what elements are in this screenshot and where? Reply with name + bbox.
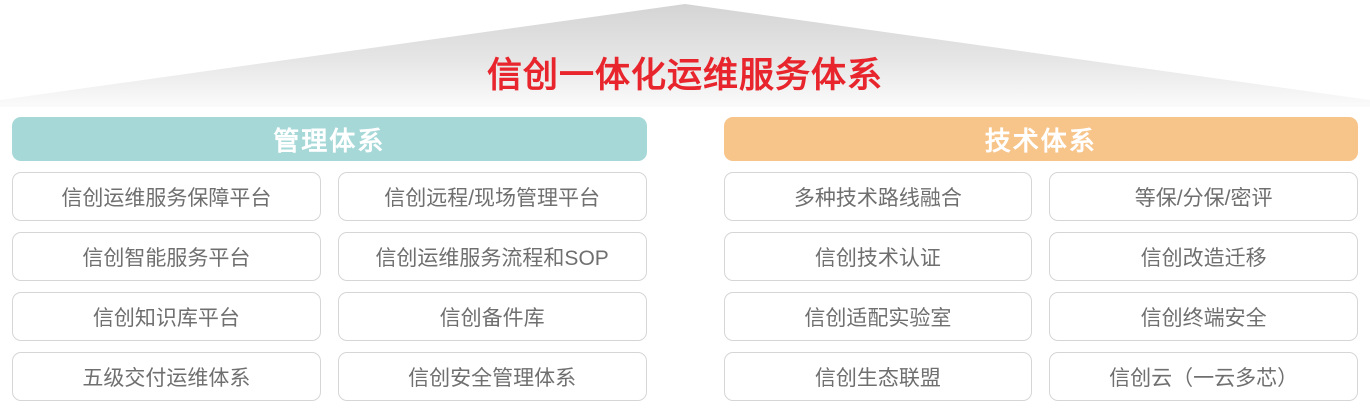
- panel-grid-management: 信创运维服务保障平台 信创远程/现场管理平台 信创智能服务平台 信创运维服务流程…: [12, 172, 647, 401]
- cell-item[interactable]: 信创知识库平台: [12, 292, 321, 341]
- cell-item[interactable]: 信创智能服务平台: [12, 232, 321, 281]
- panel-header-technology: 技术体系: [724, 117, 1359, 161]
- panels-container: 管理体系 信创运维服务保障平台 信创远程/现场管理平台 信创智能服务平台 信创运…: [0, 117, 1370, 401]
- infographic-root: 信创一体化运维服务体系 管理体系 信创运维服务保障平台 信创远程/现场管理平台 …: [0, 0, 1370, 418]
- cell-item[interactable]: 信创安全管理体系: [338, 352, 647, 401]
- cell-item[interactable]: 信创生态联盟: [724, 352, 1033, 401]
- cell-item[interactable]: 信创改造迁移: [1049, 232, 1358, 281]
- panel-grid-technology: 多种技术路线融合 等保/分保/密评 信创技术认证 信创改造迁移 信创适配实验室 …: [724, 172, 1359, 401]
- cell-item[interactable]: 信创终端安全: [1049, 292, 1358, 341]
- cell-item[interactable]: 信创技术认证: [724, 232, 1033, 281]
- cell-item[interactable]: 信创云（一云多芯）: [1049, 352, 1358, 401]
- cell-item[interactable]: 五级交付运维体系: [12, 352, 321, 401]
- cell-item[interactable]: 等保/分保/密评: [1049, 172, 1358, 221]
- cell-item[interactable]: 信创备件库: [338, 292, 647, 341]
- cell-item[interactable]: 信创运维服务流程和SOP: [338, 232, 647, 281]
- cell-item[interactable]: 信创远程/现场管理平台: [338, 172, 647, 221]
- panel-technology: 技术体系 多种技术路线融合 等保/分保/密评 信创技术认证 信创改造迁移 信创适…: [724, 117, 1359, 401]
- cell-item[interactable]: 信创运维服务保障平台: [12, 172, 321, 221]
- page-title: 信创一体化运维服务体系: [0, 56, 1370, 96]
- panel-header-management: 管理体系: [12, 117, 647, 161]
- cell-item[interactable]: 信创适配实验室: [724, 292, 1033, 341]
- panel-management: 管理体系 信创运维服务保障平台 信创远程/现场管理平台 信创智能服务平台 信创运…: [12, 117, 647, 401]
- cell-item[interactable]: 多种技术路线融合: [724, 172, 1033, 221]
